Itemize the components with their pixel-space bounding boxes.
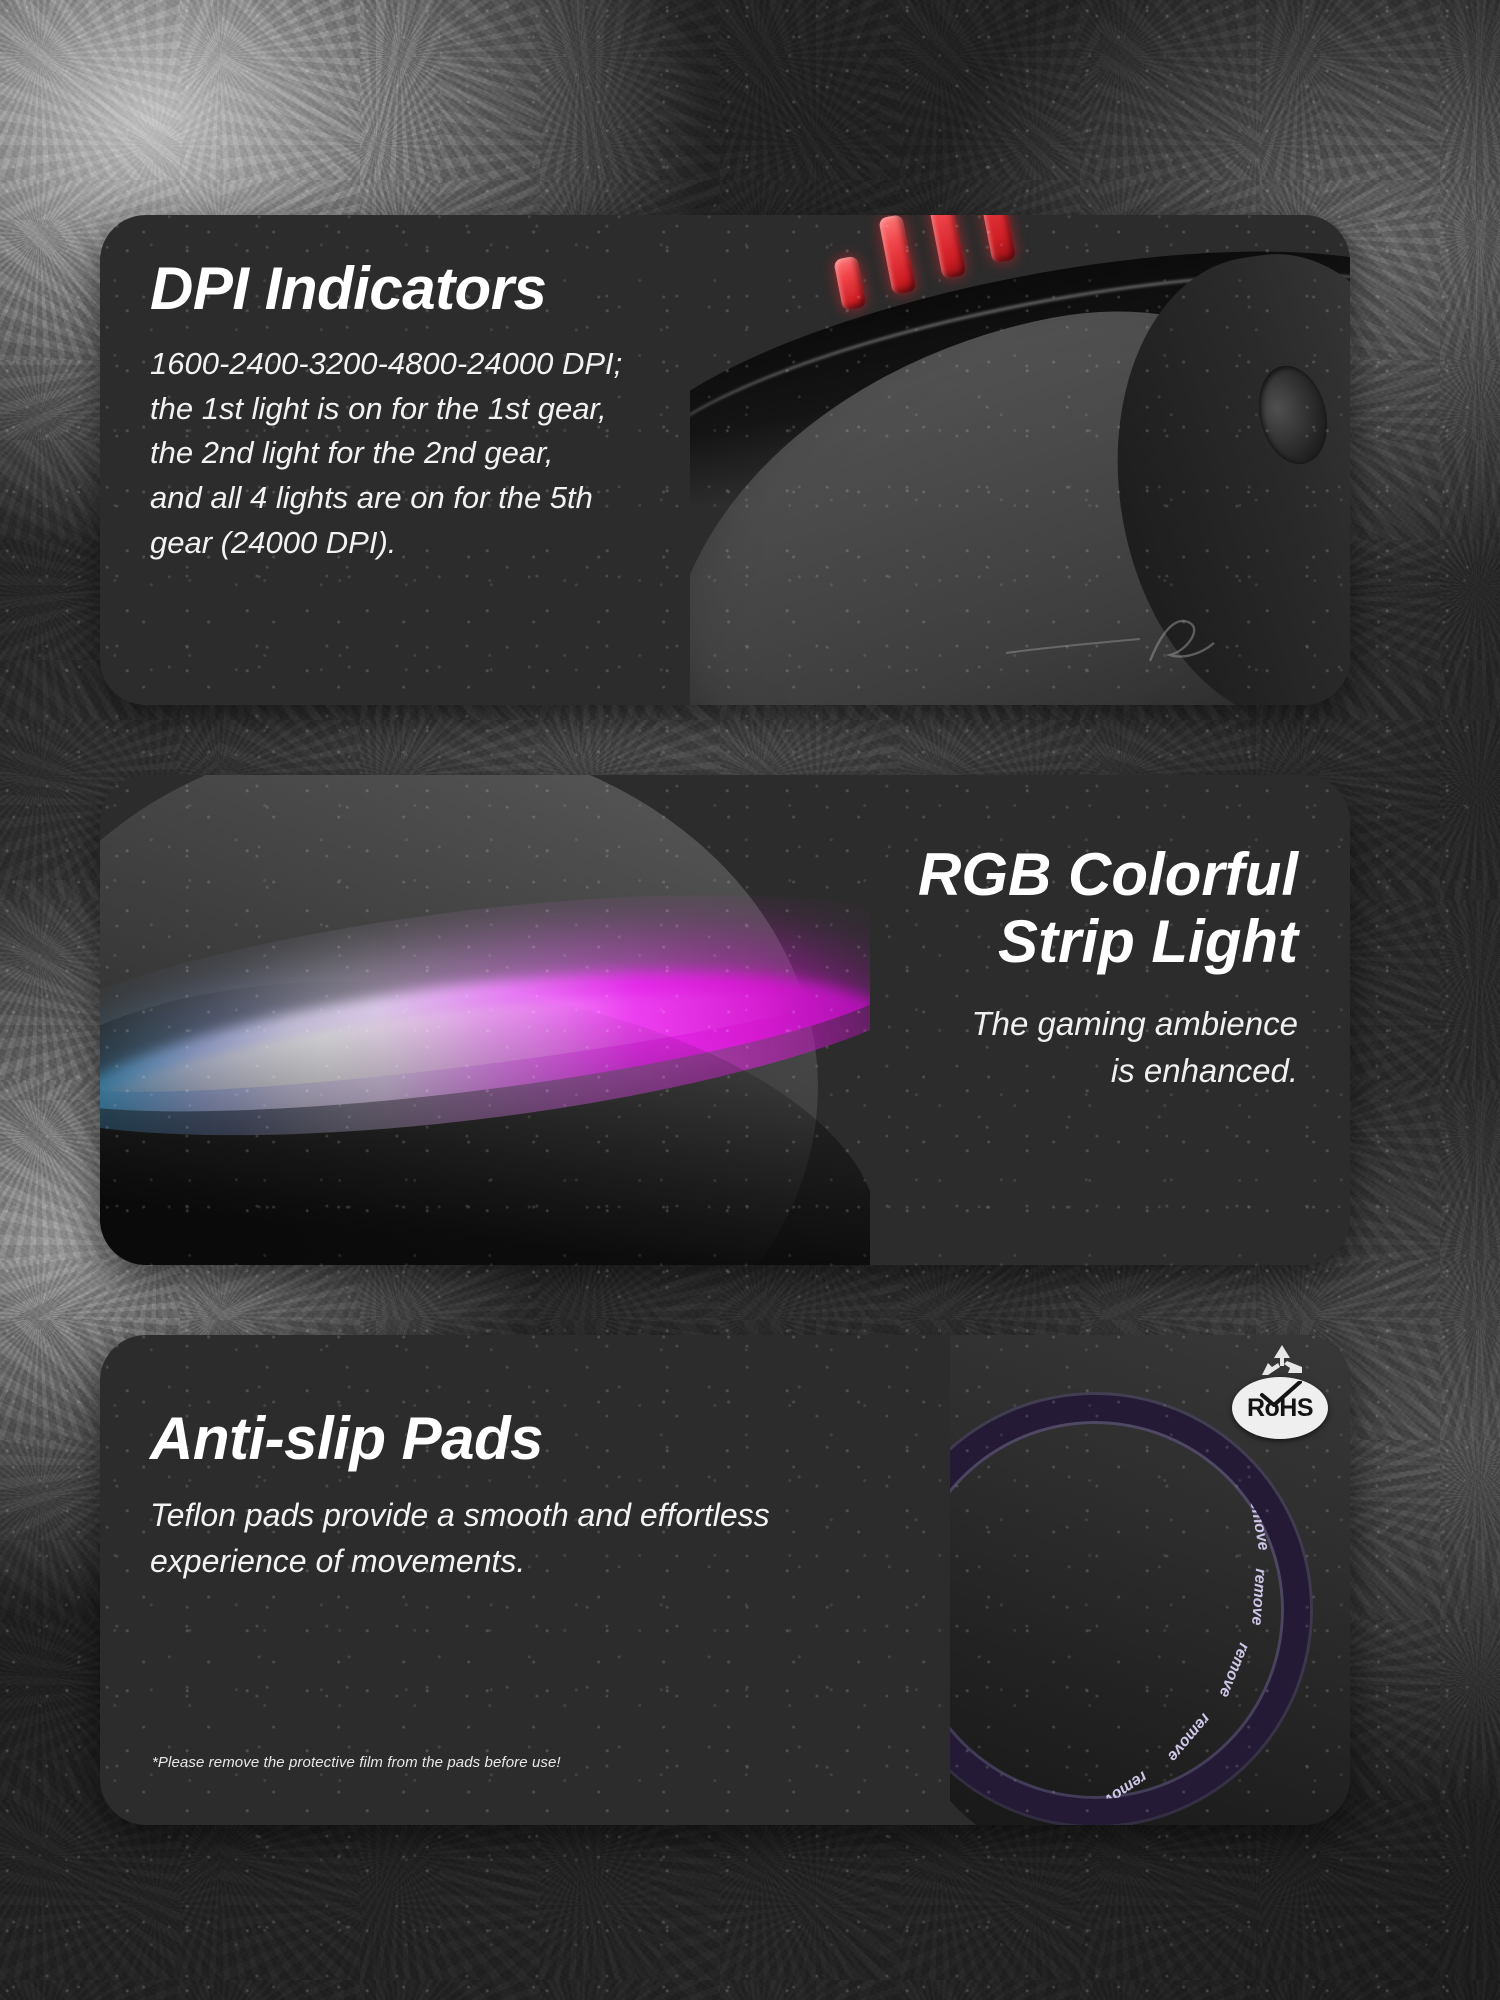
rgb-text-block: RGB Colorful Strip Light The gaming ambi… <box>778 841 1298 1095</box>
dpi-led-4 <box>970 215 1017 264</box>
rgb-subtitle: The gaming ambience is enhanced. <box>778 1001 1298 1095</box>
feature-card-dpi: DPI Indicators 1600-2400-3200-4800-24000… <box>100 215 1350 705</box>
tape-label: remove <box>1093 1767 1150 1814</box>
tape-label: remove <box>1247 1568 1269 1626</box>
recycle-icon <box>1254 1341 1310 1381</box>
rohs-badge: RoHS <box>1232 1377 1328 1439</box>
feature-card-rgb: RGB Colorful Strip Light The gaming ambi… <box>100 775 1350 1265</box>
pads-description: Teflon pads provide a smooth and effortl… <box>150 1492 950 1584</box>
dpi-led-1 <box>833 255 866 311</box>
tape-label: remove <box>1163 1709 1213 1764</box>
tape-label: remove <box>1214 1640 1252 1700</box>
mouse-rgb-photo <box>100 775 870 1265</box>
mouse-pads-photo: remove remove remove remove remove remov… <box>950 1335 1350 1825</box>
rgb-title-line1: RGB Colorful <box>778 841 1298 908</box>
dpi-title: DPI Indicators <box>150 257 790 320</box>
pads-title: Anti-slip Pads <box>150 1407 950 1470</box>
product-feature-page: DPI Indicators 1600-2400-3200-4800-24000… <box>0 0 1500 2000</box>
dpi-led-2 <box>878 215 916 295</box>
tape-label: remove <box>1244 1493 1272 1552</box>
checkmark-icon <box>1258 1381 1302 1407</box>
rgb-title-line2: Strip Light <box>778 908 1298 975</box>
dpi-led-3 <box>924 215 967 279</box>
feature-card-pads: remove remove remove remove remove remov… <box>100 1335 1350 1825</box>
dpi-description: 1600-2400-3200-4800-24000 DPI; the 1st l… <box>150 342 790 565</box>
pads-text-block: Anti-slip Pads Teflon pads provide a smo… <box>150 1407 950 1584</box>
pads-footnote: *Please remove the protective film from … <box>152 1754 561 1771</box>
dpi-text-block: DPI Indicators 1600-2400-3200-4800-24000… <box>150 257 790 565</box>
mouse-logo-signature <box>1000 609 1230 679</box>
